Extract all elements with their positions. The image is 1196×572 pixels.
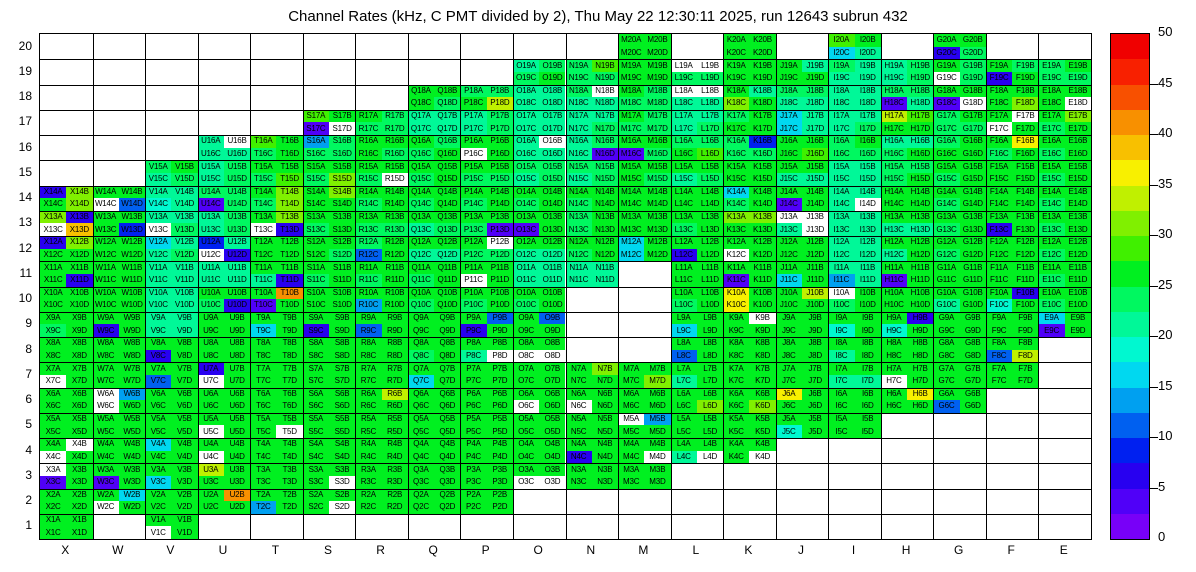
heatmap-cell[interactable]: M5A bbox=[618, 413, 644, 426]
heatmap-cell[interactable]: O12D bbox=[539, 249, 565, 262]
heatmap-cell[interactable]: V14D bbox=[171, 198, 197, 211]
heatmap-cell[interactable]: W9C bbox=[93, 324, 119, 337]
heatmap-cell[interactable]: Q2C bbox=[408, 501, 434, 514]
heatmap-cell[interactable]: O6B bbox=[539, 388, 565, 401]
heatmap-cell[interactable]: X3D bbox=[66, 476, 92, 489]
heatmap-cell[interactable]: Q8C bbox=[408, 350, 434, 363]
heatmap-cell[interactable]: G8A bbox=[933, 337, 959, 350]
heatmap-cell[interactable]: T3B bbox=[276, 463, 302, 476]
heatmap-cell[interactable]: R15C bbox=[355, 173, 381, 186]
heatmap-cell[interactable]: V5C bbox=[145, 425, 171, 438]
heatmap-cell[interactable]: I15B bbox=[855, 160, 881, 173]
heatmap-cell[interactable]: J14B bbox=[802, 186, 828, 199]
heatmap-cell[interactable]: L17D bbox=[697, 122, 723, 135]
heatmap-cell[interactable]: Q14C bbox=[408, 198, 434, 211]
heatmap-cell[interactable]: T10C bbox=[250, 299, 276, 312]
heatmap-cell[interactable]: G14A bbox=[933, 186, 959, 199]
heatmap-cell[interactable]: L12A bbox=[671, 236, 697, 249]
heatmap-cell[interactable]: N16B bbox=[592, 135, 618, 148]
heatmap-cell[interactable]: F14A bbox=[986, 186, 1012, 199]
heatmap-cell[interactable]: K8C bbox=[723, 350, 749, 363]
heatmap-cell[interactable]: I13C bbox=[828, 223, 854, 236]
heatmap-cell[interactable]: W2D bbox=[119, 501, 145, 514]
heatmap-cell[interactable]: I16C bbox=[828, 148, 854, 161]
heatmap-cell[interactable]: S12A bbox=[303, 236, 329, 249]
heatmap-cell[interactable]: L14D bbox=[697, 198, 723, 211]
heatmap-cell[interactable]: Q5A bbox=[408, 413, 434, 426]
heatmap-cell[interactable]: J17A bbox=[776, 110, 802, 123]
heatmap-cell[interactable]: V5B bbox=[171, 413, 197, 426]
heatmap-cell[interactable]: V10D bbox=[171, 299, 197, 312]
heatmap-cell[interactable]: M4C bbox=[618, 451, 644, 464]
heatmap-cell[interactable]: H13C bbox=[881, 223, 907, 236]
heatmap-cell[interactable]: F14D bbox=[1012, 198, 1038, 211]
heatmap-cell[interactable]: M13C bbox=[618, 223, 644, 236]
heatmap-cell[interactable]: K9B bbox=[749, 312, 775, 325]
heatmap-cell[interactable]: M12A bbox=[618, 236, 644, 249]
heatmap-cell[interactable]: X6D bbox=[66, 400, 92, 413]
heatmap-cell[interactable]: X5C bbox=[40, 425, 66, 438]
heatmap-cell[interactable]: U9D bbox=[224, 324, 250, 337]
heatmap-cell[interactable]: M15A bbox=[618, 160, 644, 173]
heatmap-cell[interactable]: O17A bbox=[513, 110, 539, 123]
heatmap-cell[interactable]: W4C bbox=[93, 451, 119, 464]
heatmap-cell[interactable]: V15C bbox=[145, 173, 171, 186]
heatmap-cell[interactable]: I5A bbox=[828, 413, 854, 426]
heatmap-cell[interactable]: R7D bbox=[382, 375, 408, 388]
heatmap-cell[interactable]: N5A bbox=[566, 413, 592, 426]
heatmap-cell[interactable]: G17B bbox=[960, 110, 986, 123]
heatmap-cell[interactable]: M6A bbox=[618, 388, 644, 401]
heatmap-cell[interactable]: H9A bbox=[881, 312, 907, 325]
heatmap-cell[interactable]: O14B bbox=[539, 186, 565, 199]
heatmap-cell[interactable]: O14A bbox=[513, 186, 539, 199]
heatmap-cell[interactable]: P6D bbox=[487, 400, 513, 413]
heatmap-cell[interactable]: O12B bbox=[539, 236, 565, 249]
heatmap-cell[interactable]: E19A bbox=[1038, 59, 1064, 72]
heatmap-cell[interactable]: W14D bbox=[119, 198, 145, 211]
heatmap-cell[interactable]: W6B bbox=[119, 388, 145, 401]
heatmap-cell[interactable]: T14C bbox=[250, 198, 276, 211]
heatmap-cell[interactable]: N4D bbox=[592, 451, 618, 464]
heatmap-cell[interactable]: H6A bbox=[881, 388, 907, 401]
heatmap-cell[interactable]: Q6C bbox=[408, 400, 434, 413]
heatmap-cell[interactable]: H14A bbox=[881, 186, 907, 199]
heatmap-cell[interactable]: N5D bbox=[592, 425, 618, 438]
heatmap-cell[interactable]: P10A bbox=[460, 287, 486, 300]
heatmap-cell[interactable]: I6A bbox=[828, 388, 854, 401]
heatmap-cell[interactable]: G7D bbox=[960, 375, 986, 388]
heatmap-cell[interactable]: L10B bbox=[697, 287, 723, 300]
heatmap-cell[interactable]: X6B bbox=[66, 388, 92, 401]
heatmap-cell[interactable]: F13D bbox=[1012, 223, 1038, 236]
heatmap-cell[interactable]: I6D bbox=[855, 400, 881, 413]
heatmap-cell[interactable]: Q16D bbox=[434, 148, 460, 161]
heatmap-cell[interactable]: J7C bbox=[776, 375, 802, 388]
heatmap-cell[interactable]: O7A bbox=[513, 362, 539, 375]
heatmap-cell[interactable]: V6B bbox=[171, 388, 197, 401]
heatmap-cell[interactable]: Q11A bbox=[408, 261, 434, 274]
heatmap-cell[interactable]: X10A bbox=[40, 287, 66, 300]
heatmap-cell[interactable]: K16B bbox=[749, 135, 775, 148]
heatmap-cell[interactable]: P11C bbox=[460, 274, 486, 287]
heatmap-cell[interactable]: M14A bbox=[618, 186, 644, 199]
heatmap-cell[interactable]: O5B bbox=[539, 413, 565, 426]
heatmap-cell[interactable]: M18C bbox=[618, 97, 644, 110]
heatmap-cell[interactable]: U6A bbox=[198, 388, 224, 401]
heatmap-cell[interactable]: P6C bbox=[460, 400, 486, 413]
heatmap-cell[interactable]: M16C bbox=[618, 148, 644, 161]
heatmap-cell[interactable]: J19C bbox=[776, 72, 802, 85]
heatmap-cell[interactable]: I9D bbox=[855, 324, 881, 337]
heatmap-cell[interactable]: L11C bbox=[671, 274, 697, 287]
heatmap-cell[interactable]: O12C bbox=[513, 249, 539, 262]
heatmap-cell[interactable]: I5B bbox=[855, 413, 881, 426]
heatmap-cell[interactable]: N12B bbox=[592, 236, 618, 249]
heatmap-cell[interactable]: I13B bbox=[855, 211, 881, 224]
heatmap-cell[interactable]: Q2B bbox=[434, 489, 460, 502]
heatmap-cell[interactable]: U6B bbox=[224, 388, 250, 401]
heatmap-cell[interactable]: I13A bbox=[828, 211, 854, 224]
heatmap-cell[interactable]: N6D bbox=[592, 400, 618, 413]
heatmap-cell[interactable]: Q15C bbox=[408, 173, 434, 186]
heatmap-cell[interactable]: R15B bbox=[382, 160, 408, 173]
heatmap-cell[interactable]: P17B bbox=[487, 110, 513, 123]
heatmap-cell[interactable]: J15C bbox=[776, 173, 802, 186]
heatmap-cell[interactable]: X7D bbox=[66, 375, 92, 388]
heatmap-cell[interactable]: N6B bbox=[592, 388, 618, 401]
heatmap-cell[interactable]: F19D bbox=[1012, 72, 1038, 85]
heatmap-cell[interactable]: F19B bbox=[1012, 59, 1038, 72]
heatmap-cell[interactable]: O17C bbox=[513, 122, 539, 135]
heatmap-cell[interactable]: J10B bbox=[802, 287, 828, 300]
heatmap-cell[interactable]: K13A bbox=[723, 211, 749, 224]
heatmap-cell[interactable]: Q13A bbox=[408, 211, 434, 224]
heatmap-cell[interactable]: T7A bbox=[250, 362, 276, 375]
heatmap-cell[interactable]: N14B bbox=[592, 186, 618, 199]
heatmap-cell[interactable]: K6A bbox=[723, 388, 749, 401]
heatmap-cell[interactable]: P10C bbox=[460, 299, 486, 312]
heatmap-cell[interactable]: R5C bbox=[355, 425, 381, 438]
heatmap-cell[interactable]: V6A bbox=[145, 388, 171, 401]
heatmap-cell[interactable]: Q2D bbox=[434, 501, 460, 514]
heatmap-cell[interactable]: P7A bbox=[460, 362, 486, 375]
heatmap-cell[interactable]: T16B bbox=[276, 135, 302, 148]
heatmap-cell[interactable]: H18B bbox=[907, 85, 933, 98]
heatmap-cell[interactable]: L13B bbox=[697, 211, 723, 224]
heatmap-cell[interactable]: G10C bbox=[933, 299, 959, 312]
heatmap-cell[interactable]: X14A bbox=[40, 186, 66, 199]
heatmap-cell[interactable]: T2A bbox=[250, 489, 276, 502]
heatmap-cell[interactable]: V10A bbox=[145, 287, 171, 300]
heatmap-cell[interactable]: Q11D bbox=[434, 274, 460, 287]
heatmap-cell[interactable]: S15B bbox=[329, 160, 355, 173]
heatmap-cell[interactable]: G17D bbox=[960, 122, 986, 135]
heatmap-cell[interactable]: I13D bbox=[855, 223, 881, 236]
heatmap-cell[interactable]: W12D bbox=[119, 249, 145, 262]
heatmap-cell[interactable]: I9B bbox=[855, 312, 881, 325]
heatmap-cell[interactable]: S6B bbox=[329, 388, 355, 401]
heatmap-cell[interactable]: I12B bbox=[855, 236, 881, 249]
heatmap-cell[interactable]: J6C bbox=[776, 400, 802, 413]
heatmap-cell[interactable]: F8B bbox=[1012, 337, 1038, 350]
heatmap-cell[interactable]: R9D bbox=[382, 324, 408, 337]
heatmap-cell[interactable]: O8D bbox=[539, 350, 565, 363]
heatmap-cell[interactable]: T8D bbox=[276, 350, 302, 363]
heatmap-cell[interactable]: P12B bbox=[487, 236, 513, 249]
heatmap-cell[interactable]: I14D bbox=[855, 198, 881, 211]
heatmap-cell[interactable]: G14B bbox=[960, 186, 986, 199]
heatmap-cell[interactable]: J18B bbox=[802, 85, 828, 98]
heatmap-cell[interactable]: P15B bbox=[487, 160, 513, 173]
heatmap-cell[interactable]: W8B bbox=[119, 337, 145, 350]
heatmap-cell[interactable]: L15A bbox=[671, 160, 697, 173]
heatmap-cell[interactable]: N11C bbox=[566, 274, 592, 287]
heatmap-cell[interactable]: N17B bbox=[592, 110, 618, 123]
heatmap-cell[interactable]: H8A bbox=[881, 337, 907, 350]
heatmap-cell[interactable]: O5C bbox=[513, 425, 539, 438]
heatmap-cell[interactable]: N3A bbox=[566, 463, 592, 476]
heatmap-cell[interactable]: L19A bbox=[671, 59, 697, 72]
heatmap-cell[interactable]: E18C bbox=[1038, 97, 1064, 110]
heatmap-cell[interactable]: E16C bbox=[1038, 148, 1064, 161]
heatmap-cell[interactable]: Q9A bbox=[408, 312, 434, 325]
heatmap-cell[interactable]: J11D bbox=[802, 274, 828, 287]
heatmap-cell[interactable]: N14C bbox=[566, 198, 592, 211]
heatmap-cell[interactable]: G8D bbox=[960, 350, 986, 363]
heatmap-cell[interactable]: X14D bbox=[66, 198, 92, 211]
heatmap-cell[interactable]: S4D bbox=[329, 451, 355, 464]
heatmap-cell[interactable]: L15B bbox=[697, 160, 723, 173]
heatmap-cell[interactable]: E18A bbox=[1038, 85, 1064, 98]
heatmap-cell[interactable]: F13B bbox=[1012, 211, 1038, 224]
heatmap-cell[interactable]: I15C bbox=[828, 173, 854, 186]
heatmap-cell[interactable]: S12C bbox=[303, 249, 329, 262]
heatmap-cell[interactable]: W2C bbox=[93, 501, 119, 514]
heatmap-cell[interactable]: L9A bbox=[671, 312, 697, 325]
heatmap-cell[interactable]: W14B bbox=[119, 186, 145, 199]
heatmap-cell[interactable]: S5C bbox=[303, 425, 329, 438]
heatmap-cell[interactable]: T2D bbox=[276, 501, 302, 514]
heatmap-cell[interactable]: O10C bbox=[513, 299, 539, 312]
heatmap-cell[interactable]: G10D bbox=[960, 299, 986, 312]
heatmap-cell[interactable]: R17A bbox=[355, 110, 381, 123]
heatmap-cell[interactable]: F9A bbox=[986, 312, 1012, 325]
heatmap-cell[interactable]: F15B bbox=[1012, 160, 1038, 173]
heatmap-cell[interactable]: V1B bbox=[171, 514, 197, 527]
heatmap-cell[interactable]: K4A bbox=[723, 438, 749, 451]
heatmap-cell[interactable]: Q15D bbox=[434, 173, 460, 186]
heatmap-cell[interactable]: Q9B bbox=[434, 312, 460, 325]
heatmap-cell[interactable]: K5B bbox=[749, 413, 775, 426]
heatmap-cell[interactable]: F7D bbox=[1012, 375, 1038, 388]
heatmap-cell[interactable]: V8A bbox=[145, 337, 171, 350]
heatmap-cell[interactable]: P7B bbox=[487, 362, 513, 375]
heatmap-cell[interactable]: V3D bbox=[171, 476, 197, 489]
heatmap-cell[interactable]: M13B bbox=[644, 211, 670, 224]
heatmap-cell[interactable]: T16C bbox=[250, 148, 276, 161]
heatmap-cell[interactable]: H16A bbox=[881, 135, 907, 148]
heatmap-cell[interactable]: P8B bbox=[487, 337, 513, 350]
heatmap-cell[interactable]: V7C bbox=[145, 375, 171, 388]
heatmap-cell[interactable]: T11C bbox=[250, 274, 276, 287]
heatmap-cell[interactable]: H16C bbox=[881, 148, 907, 161]
heatmap-cell[interactable]: L14C bbox=[671, 198, 697, 211]
heatmap-cell[interactable]: N18C bbox=[566, 97, 592, 110]
heatmap-cell[interactable]: T13C bbox=[250, 223, 276, 236]
heatmap-cell[interactable]: R11D bbox=[382, 274, 408, 287]
heatmap-cell[interactable]: P5B bbox=[487, 413, 513, 426]
heatmap-cell[interactable]: F10D bbox=[1012, 299, 1038, 312]
heatmap-cell[interactable]: J16B bbox=[802, 135, 828, 148]
heatmap-cell[interactable]: V13C bbox=[145, 223, 171, 236]
heatmap-cell[interactable]: K6C bbox=[723, 400, 749, 413]
heatmap-cell[interactable]: V11D bbox=[171, 274, 197, 287]
heatmap-cell[interactable]: L19B bbox=[697, 59, 723, 72]
heatmap-cell[interactable]: P15C bbox=[460, 173, 486, 186]
heatmap-cell[interactable]: V3A bbox=[145, 463, 171, 476]
heatmap-cell[interactable]: P9C bbox=[460, 324, 486, 337]
heatmap-cell[interactable]: L18B bbox=[697, 85, 723, 98]
heatmap-cell[interactable]: R5D bbox=[382, 425, 408, 438]
heatmap-cell[interactable]: H13A bbox=[881, 211, 907, 224]
heatmap-cell[interactable]: Q10A bbox=[408, 287, 434, 300]
heatmap-cell[interactable]: S13C bbox=[303, 223, 329, 236]
heatmap-cell[interactable]: O3C bbox=[513, 476, 539, 489]
heatmap-cell[interactable]: V1A bbox=[145, 514, 171, 527]
heatmap-cell[interactable]: T9D bbox=[276, 324, 302, 337]
heatmap-cell[interactable]: H15B bbox=[907, 160, 933, 173]
heatmap-cell[interactable]: P16B bbox=[487, 135, 513, 148]
heatmap-cell[interactable]: W12A bbox=[93, 236, 119, 249]
heatmap-cell[interactable]: I6C bbox=[828, 400, 854, 413]
heatmap-cell[interactable]: U4C bbox=[198, 451, 224, 464]
heatmap-cell[interactable]: L10A bbox=[671, 287, 697, 300]
heatmap-cell[interactable]: X5A bbox=[40, 413, 66, 426]
heatmap-cell[interactable]: M7D bbox=[644, 375, 670, 388]
heatmap-cell[interactable]: K12C bbox=[723, 249, 749, 262]
heatmap-cell[interactable]: I16B bbox=[855, 135, 881, 148]
heatmap-cell[interactable]: T14D bbox=[276, 198, 302, 211]
heatmap-cell[interactable]: Q6D bbox=[434, 400, 460, 413]
heatmap-cell[interactable]: P3B bbox=[487, 463, 513, 476]
heatmap-cell[interactable]: X1A bbox=[40, 514, 66, 527]
heatmap-cell[interactable]: O10A bbox=[513, 287, 539, 300]
heatmap-cell[interactable]: R2D bbox=[382, 501, 408, 514]
heatmap-cell[interactable]: L8D bbox=[697, 350, 723, 363]
heatmap-cell[interactable]: K15D bbox=[749, 173, 775, 186]
heatmap-cell[interactable]: H13D bbox=[907, 223, 933, 236]
heatmap-cell[interactable]: G12D bbox=[960, 249, 986, 262]
heatmap-cell[interactable]: L9B bbox=[697, 312, 723, 325]
heatmap-cell[interactable]: E17B bbox=[1065, 110, 1091, 123]
heatmap-cell[interactable]: X13C bbox=[40, 223, 66, 236]
heatmap-cell[interactable]: Q10C bbox=[408, 299, 434, 312]
heatmap-cell[interactable]: H11D bbox=[907, 274, 933, 287]
heatmap-cell[interactable]: R4D bbox=[382, 451, 408, 464]
heatmap-cell[interactable]: R4C bbox=[355, 451, 381, 464]
heatmap-cell[interactable]: U6C bbox=[198, 400, 224, 413]
heatmap-cell[interactable]: G6B bbox=[960, 388, 986, 401]
heatmap-cell[interactable]: I11D bbox=[855, 274, 881, 287]
heatmap-cell[interactable]: Q18D bbox=[434, 97, 460, 110]
heatmap-cell[interactable]: J15D bbox=[802, 173, 828, 186]
heatmap-cell[interactable]: R10A bbox=[355, 287, 381, 300]
heatmap-cell[interactable]: O5D bbox=[539, 425, 565, 438]
heatmap-cell[interactable]: J12C bbox=[776, 249, 802, 262]
heatmap-cell[interactable]: W4D bbox=[119, 451, 145, 464]
heatmap-cell[interactable]: L10D bbox=[697, 299, 723, 312]
heatmap-cell[interactable]: V12A bbox=[145, 236, 171, 249]
heatmap-cell[interactable]: X12B bbox=[66, 236, 92, 249]
heatmap-cell[interactable]: K12B bbox=[749, 236, 775, 249]
heatmap-cell[interactable]: E13B bbox=[1065, 211, 1091, 224]
heatmap-cell[interactable]: G11C bbox=[933, 274, 959, 287]
heatmap-cell[interactable]: W13C bbox=[93, 223, 119, 236]
heatmap-cell[interactable]: H18D bbox=[907, 97, 933, 110]
heatmap-cell[interactable]: F18D bbox=[1012, 97, 1038, 110]
heatmap-cell[interactable]: K13B bbox=[749, 211, 775, 224]
heatmap-cell[interactable]: R14D bbox=[382, 198, 408, 211]
heatmap-cell[interactable]: J10A bbox=[776, 287, 802, 300]
heatmap-cell[interactable]: Q15A bbox=[408, 160, 434, 173]
heatmap-cell[interactable]: I20C bbox=[828, 47, 854, 60]
heatmap-cell[interactable]: O16D bbox=[539, 148, 565, 161]
heatmap-cell[interactable]: X1C bbox=[40, 526, 66, 539]
heatmap-cell[interactable]: K19D bbox=[749, 72, 775, 85]
heatmap-cell[interactable]: E13C bbox=[1038, 223, 1064, 236]
heatmap-cell[interactable]: S8A bbox=[303, 337, 329, 350]
heatmap-cell[interactable]: R13D bbox=[382, 223, 408, 236]
heatmap-cell[interactable]: M7A bbox=[618, 362, 644, 375]
heatmap-cell[interactable]: I14B bbox=[855, 186, 881, 199]
heatmap-cell[interactable]: V11C bbox=[145, 274, 171, 287]
heatmap-cell[interactable]: W9B bbox=[119, 312, 145, 325]
heatmap-cell[interactable]: E12C bbox=[1038, 249, 1064, 262]
heatmap-cell[interactable]: N16A bbox=[566, 135, 592, 148]
heatmap-cell[interactable]: L5C bbox=[671, 425, 697, 438]
heatmap-cell[interactable]: N7C bbox=[566, 375, 592, 388]
heatmap-cell[interactable]: T14B bbox=[276, 186, 302, 199]
heatmap-cell[interactable]: V8C bbox=[145, 350, 171, 363]
heatmap-cell[interactable]: I7A bbox=[828, 362, 854, 375]
heatmap-cell[interactable]: M6D bbox=[644, 400, 670, 413]
heatmap-cell[interactable]: T15C bbox=[250, 173, 276, 186]
heatmap-cell[interactable]: U15C bbox=[198, 173, 224, 186]
heatmap-cell[interactable]: W4A bbox=[93, 438, 119, 451]
heatmap-cell[interactable]: I11B bbox=[855, 261, 881, 274]
heatmap-cell[interactable]: V5D bbox=[171, 425, 197, 438]
heatmap-cell[interactable]: N18D bbox=[592, 97, 618, 110]
heatmap-cell[interactable]: U11A bbox=[198, 261, 224, 274]
heatmap-cell[interactable]: N6C bbox=[566, 400, 592, 413]
heatmap-cell[interactable]: Q3A bbox=[408, 463, 434, 476]
heatmap-cell[interactable]: U12C bbox=[198, 249, 224, 262]
heatmap-cell[interactable]: P9B bbox=[487, 312, 513, 325]
heatmap-cell[interactable]: I9A bbox=[828, 312, 854, 325]
heatmap-cell[interactable]: O4C bbox=[513, 451, 539, 464]
heatmap-cell[interactable]: F11C bbox=[986, 274, 1012, 287]
heatmap-cell[interactable]: T8B bbox=[276, 337, 302, 350]
heatmap-cell[interactable]: N7A bbox=[566, 362, 592, 375]
heatmap-cell[interactable]: N17C bbox=[566, 122, 592, 135]
heatmap-cell[interactable]: P18C bbox=[460, 97, 486, 110]
heatmap-cell[interactable]: G8B bbox=[960, 337, 986, 350]
heatmap-cell[interactable]: I9C bbox=[828, 324, 854, 337]
heatmap-cell[interactable]: K20D bbox=[749, 47, 775, 60]
heatmap-cell[interactable]: N16D bbox=[592, 148, 618, 161]
heatmap-cell[interactable]: M3D bbox=[644, 476, 670, 489]
